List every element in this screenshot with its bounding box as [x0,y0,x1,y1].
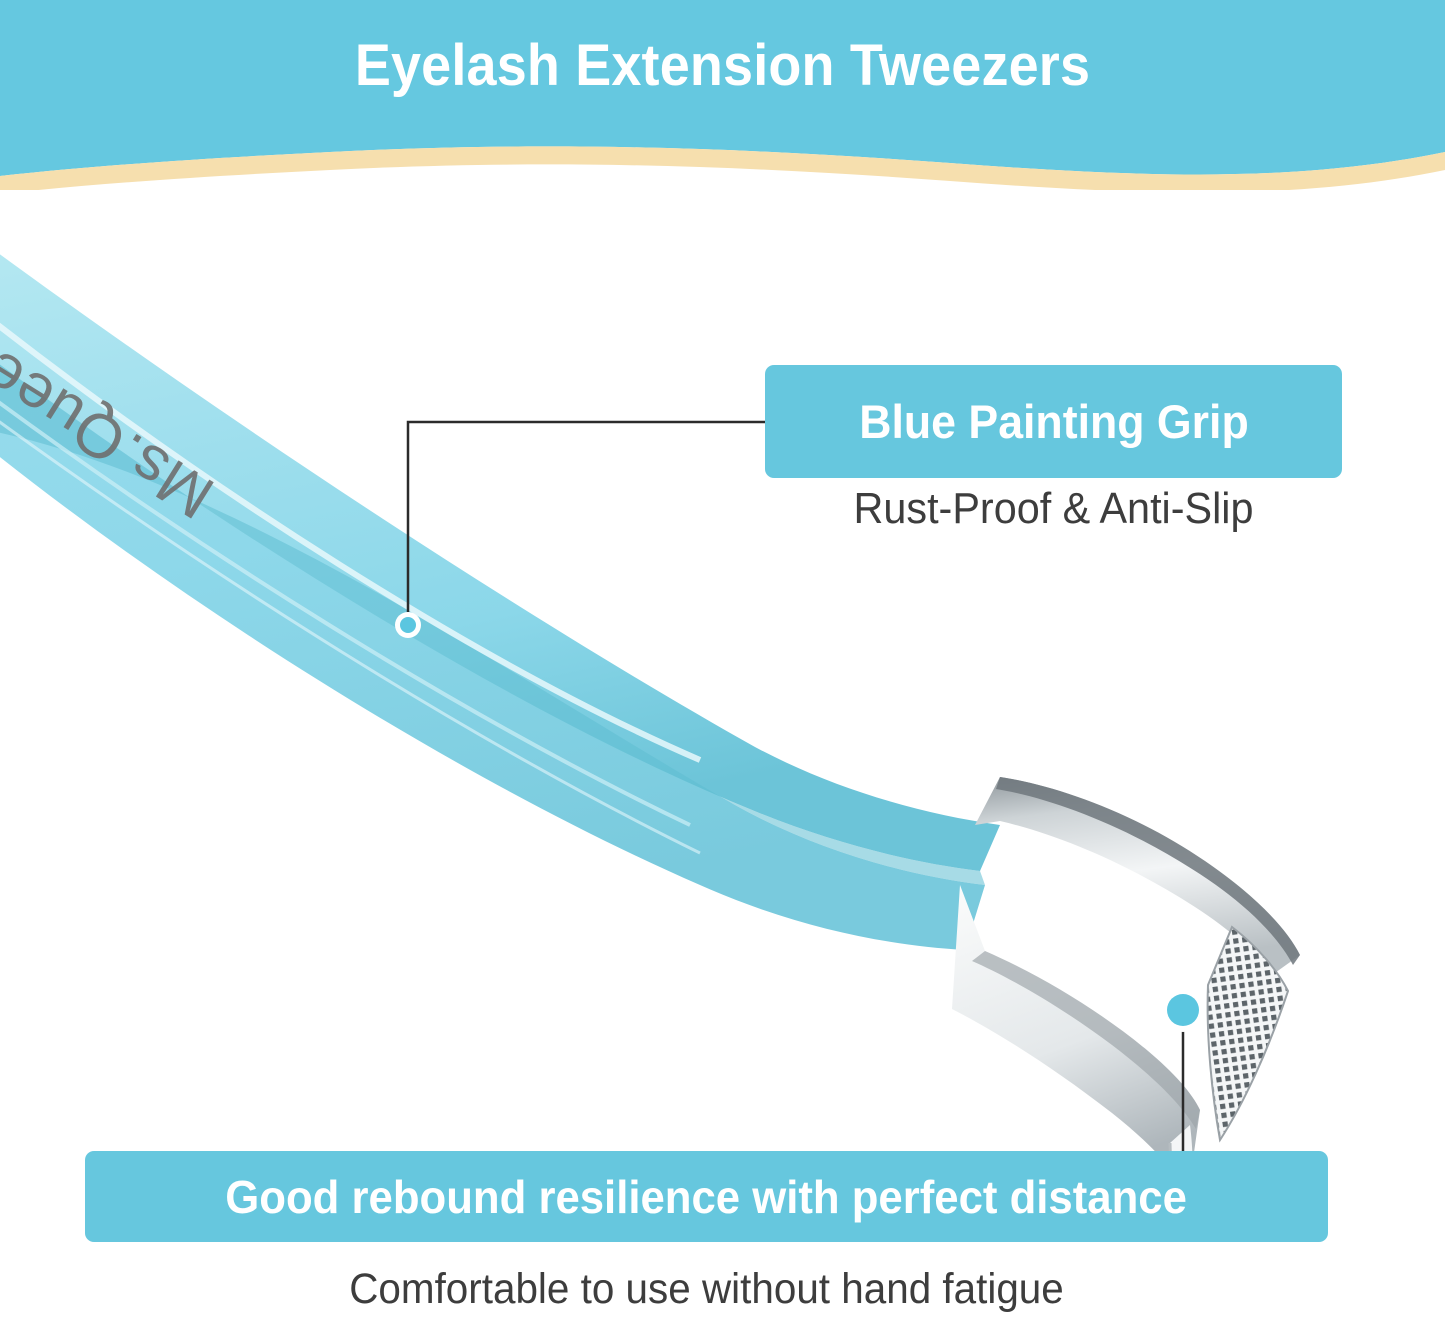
callout-label: Blue Painting Grip [859,398,1248,445]
product-infographic-page: Eyelash Extension Tweezers [0,0,1445,1328]
product-photo: Ms.Queen [0,185,1445,1185]
header-banner: Eyelash Extension Tweezers [0,0,1445,190]
callout-label: Good rebound resilience with perfect dis… [226,1174,1188,1220]
callout-good-rebound-subtitle: Comfortable to use without hand fatigue [122,1268,1290,1311]
tweezer-steel-tip-icon [952,777,1300,1185]
tweezer-handle-icon [0,225,1000,950]
callout-blue-painting-grip-subtitle: Rust-Proof & Anti-Slip [782,487,1324,531]
tweezer-illustration: Ms.Queen [0,185,1445,1185]
page-title: Eyelash Extension Tweezers [51,36,1395,97]
callout-good-rebound: Good rebound resilience with perfect dis… [85,1151,1328,1242]
callout-blue-painting-grip: Blue Painting Grip [765,365,1342,478]
